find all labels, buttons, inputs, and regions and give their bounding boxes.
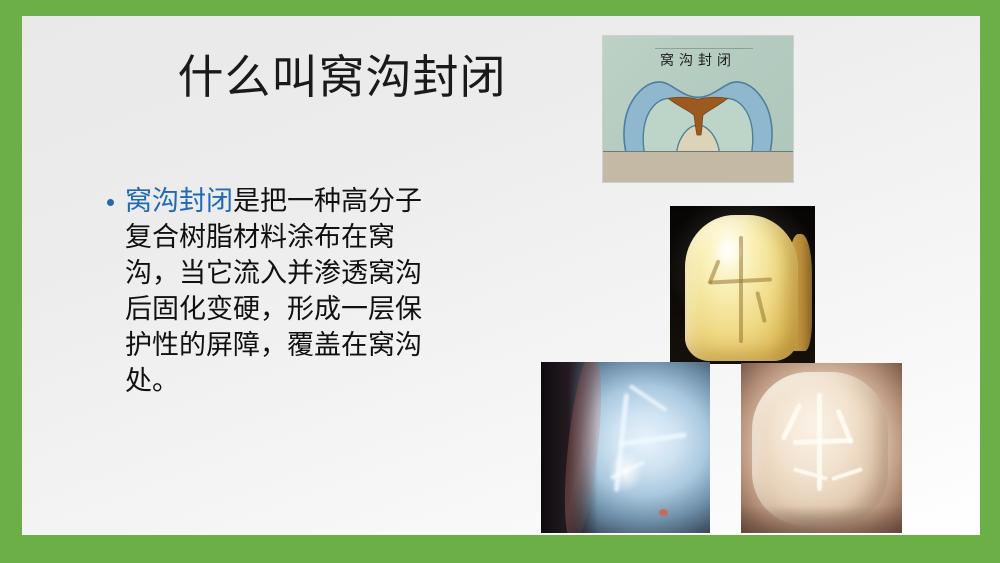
bullet-dot-icon: [107, 184, 125, 206]
body-content: 窝沟封闭是把一种高分子复合树脂材料涂布在窝沟，当它流入并渗透窝沟后固化变硬，形成…: [107, 184, 427, 399]
gum-band: [603, 151, 793, 182]
molar-crown: [685, 215, 798, 360]
fissure-line: [793, 468, 828, 482]
fissure-line: [793, 438, 853, 445]
photo-vignette: [741, 506, 902, 533]
tooth-cross-section-diagram[interactable]: 窝沟封闭: [602, 35, 794, 183]
fissure-line: [831, 468, 863, 482]
molar-occlusal-photo[interactable]: [741, 363, 902, 533]
list-item: 窝沟封闭是把一种高分子复合树脂材料涂布在窝沟，当它流入并渗透窝沟后固化变硬，形成…: [107, 184, 427, 399]
specular-highlight: [714, 236, 743, 268]
diagram-caption: 窝沟封闭: [603, 50, 793, 70]
yellow-molar-photo[interactable]: [670, 206, 815, 364]
molar-crown: [752, 372, 887, 525]
specular-highlight: [609, 451, 643, 492]
sealed-tooth-intraoral-photo[interactable]: [541, 362, 710, 533]
bullet-highlight-term: 窝沟封闭: [125, 186, 233, 217]
bullet-text: 窝沟封闭是把一种高分子复合树脂材料涂布在窝沟，当它流入并渗透窝沟后固化变硬，形成…: [125, 184, 427, 399]
page-title: 什么叫窝沟封闭: [132, 52, 552, 103]
fissure-line: [755, 291, 767, 323]
slide-canvas: 什么叫窝沟封闭 窝沟封闭是把一种高分子复合树脂材料涂布在窝沟，当它流入并渗透窝沟…: [22, 16, 980, 535]
slide-frame: 什么叫窝沟封闭 窝沟封闭是把一种高分子复合树脂材料涂布在窝沟，当它流入并渗透窝沟…: [0, 0, 1000, 563]
diagram-label-rule: [655, 48, 753, 49]
fissure-line: [780, 403, 802, 441]
bullet-body-text: 是把一种高分子复合树脂材料涂布在窝沟，当它流入并渗透窝沟后固化变硬，形成一层保护…: [125, 186, 422, 397]
